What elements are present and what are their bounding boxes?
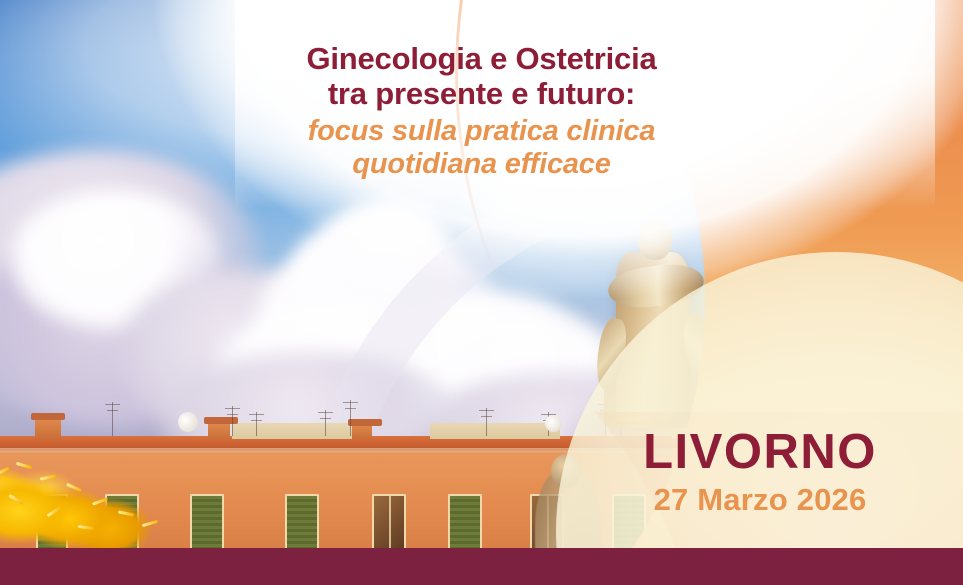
headline-block: Ginecologia e Ostetricia tra presente e … (0, 42, 963, 180)
event-date: 27 Marzo 2026 (560, 484, 960, 515)
headline-line-2: tra presente e futuro: (0, 77, 963, 112)
headline-line-4: quotidiana efficace (0, 148, 963, 180)
flowering-shrub (0, 460, 187, 552)
bottom-bar (0, 548, 963, 585)
event-location-block: LIVORNO 27 Marzo 2026 (560, 428, 960, 515)
headline-line-3: focus sulla pratica clinica (0, 115, 963, 147)
event-city: LIVORNO (560, 428, 960, 477)
event-banner: Ginecologia e Ostetricia tra presente e … (0, 0, 963, 585)
headline-line-1: Ginecologia e Ostetricia (0, 42, 963, 77)
